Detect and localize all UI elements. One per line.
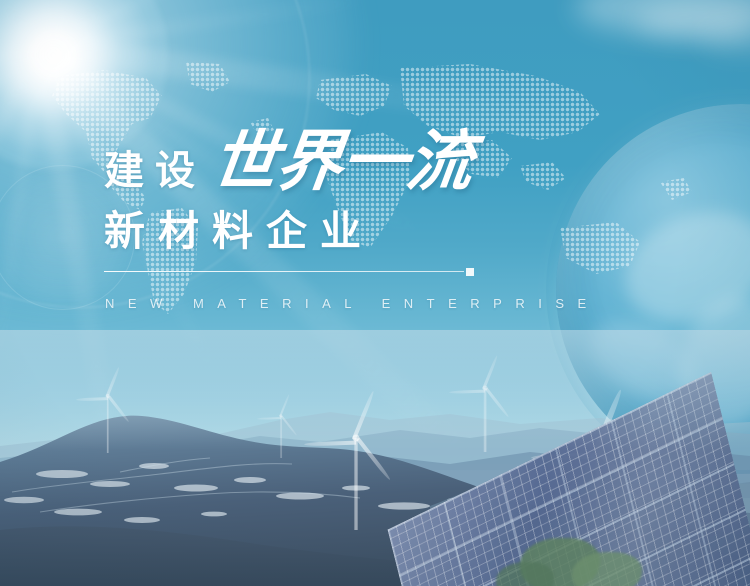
divider-end-cap <box>466 268 474 276</box>
divider <box>104 268 484 276</box>
turbine-hub <box>353 435 360 442</box>
turbine-mast <box>484 388 487 452</box>
turbine-mast <box>280 416 282 458</box>
headline-line-2: 新材料企业 <box>104 210 624 253</box>
subtitle: NEW MATERIAL ENTERPRISE <box>105 296 600 311</box>
foliage-icon <box>572 552 642 586</box>
turbine-mast <box>354 438 358 530</box>
headline-prefix: 建设 <box>104 151 206 191</box>
turbine-mast <box>107 396 109 453</box>
headline-line-1: 建设 世界一流 <box>104 128 624 194</box>
turbine-hub <box>483 386 488 391</box>
headline-emphasis: 世界一流 <box>208 128 476 194</box>
divider-line <box>104 271 464 272</box>
banner-hero: 建设 世界一流 新材料企业 NEW MATERIAL ENTERPRISE <box>0 0 750 586</box>
headline-block: 建设 世界一流 新材料企业 <box>104 128 624 253</box>
